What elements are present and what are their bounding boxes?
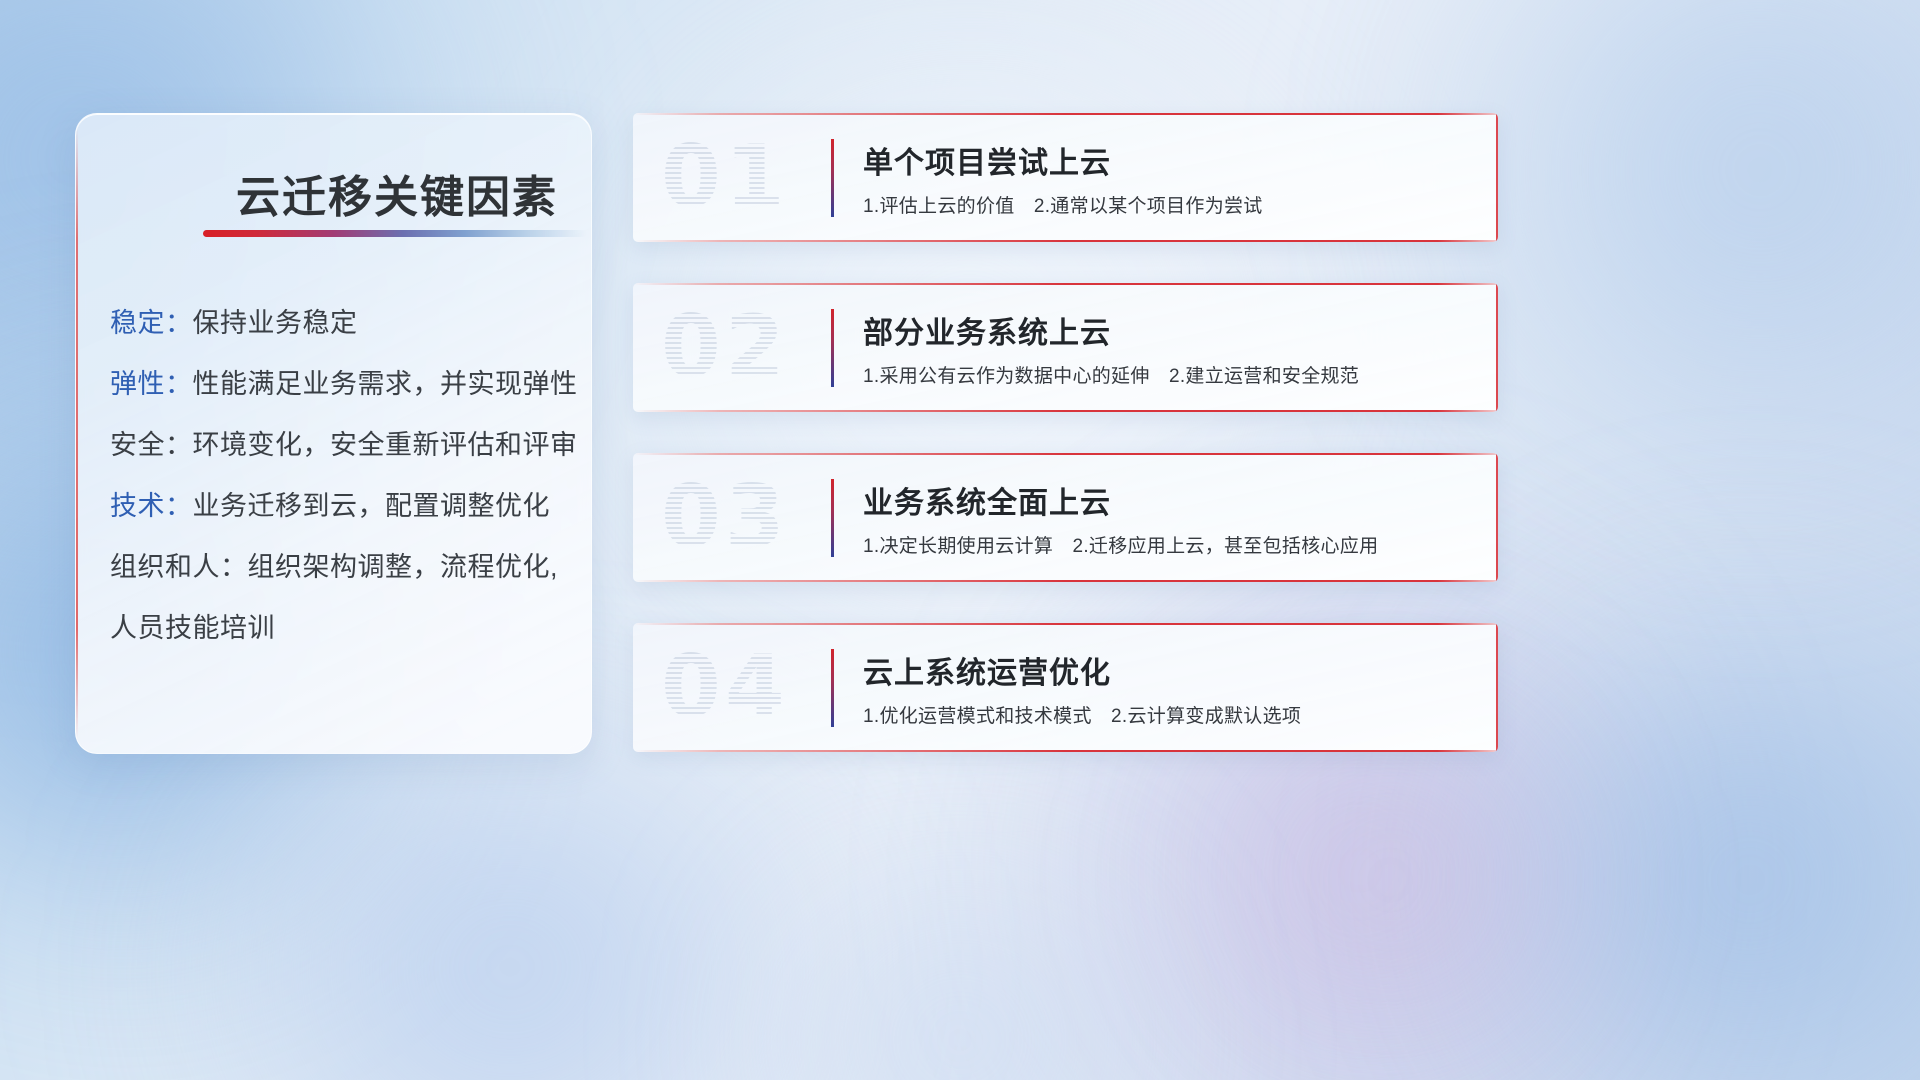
factor-label: 稳定： bbox=[110, 310, 193, 337]
factor-row: 稳定：保持业务稳定 bbox=[110, 310, 573, 337]
factor-label: 组织和人： bbox=[110, 554, 248, 581]
factor-list: 稳定：保持业务稳定弹性：性能满足业务需求，并实现弹性安全：环境变化，安全重新评估… bbox=[110, 310, 573, 676]
stage-description: 1.评估上云的价值 2.通常以某个项目作为尝试 bbox=[863, 191, 1263, 218]
gradient-divider bbox=[831, 139, 834, 217]
page-title: 云迁移关键因素 bbox=[236, 161, 558, 225]
key-factors-panel: 云迁移关键因素 稳定：保持业务稳定弹性：性能满足业务需求，并实现弹性安全：环境变… bbox=[75, 113, 592, 754]
stage-title: 单个项目尝试上云 bbox=[863, 138, 1111, 182]
factor-row: 技术：业务迁移到云，配置调整优化 bbox=[110, 493, 573, 520]
card-edge-accent bbox=[1496, 283, 1498, 412]
card-edge-accent bbox=[1496, 623, 1498, 752]
stage-number-watermark: 04 bbox=[661, 637, 789, 737]
stage-title: 云上系统运营优化 bbox=[863, 648, 1111, 692]
factor-value: 业务迁移到云，配置调整优化 bbox=[193, 493, 551, 520]
stage-card[interactable]: 03业务系统全面上云1.决定长期使用云计算 2.迁移应用上云，甚至包括核心应用 bbox=[633, 453, 1498, 582]
stage-description: 1.决定长期使用云计算 2.迁移应用上云，甚至包括核心应用 bbox=[863, 531, 1378, 558]
factor-row: 人员技能培训 bbox=[110, 615, 573, 642]
factor-value: 环境变化，安全重新评估和评审 bbox=[193, 432, 578, 459]
factor-label: 技术： bbox=[110, 493, 193, 520]
stage-description: 1.优化运营模式和技术模式 2.云计算变成默认选项 bbox=[863, 701, 1301, 728]
stage-description: 1.采用公有云作为数据中心的延伸 2.建立运营和安全规范 bbox=[863, 361, 1359, 388]
gradient-divider bbox=[831, 649, 834, 727]
stage-number-watermark: 03 bbox=[661, 467, 789, 567]
factor-value: 保持业务稳定 bbox=[193, 310, 358, 337]
factor-row: 安全：环境变化，安全重新评估和评审 bbox=[110, 432, 573, 459]
factor-value: 组织架构调整，流程优化, bbox=[248, 554, 559, 581]
factor-value: 性能满足业务需求，并实现弹性 bbox=[193, 371, 578, 398]
card-edge-accent bbox=[1496, 453, 1498, 582]
factor-value: 人员技能培训 bbox=[110, 615, 275, 642]
title-underline-accent bbox=[203, 230, 587, 237]
stage-card-list: 01单个项目尝试上云1.评估上云的价值 2.通常以某个项目作为尝试02部分业务系… bbox=[633, 113, 1498, 793]
gradient-divider bbox=[831, 479, 834, 557]
factor-label: 弹性： bbox=[110, 371, 193, 398]
stage-title: 业务系统全面上云 bbox=[863, 478, 1111, 522]
factor-label: 安全： bbox=[110, 432, 193, 459]
factor-row: 弹性：性能满足业务需求，并实现弹性 bbox=[110, 371, 573, 398]
factor-row: 组织和人：组织架构调整，流程优化, bbox=[110, 554, 573, 581]
gradient-divider bbox=[831, 309, 834, 387]
stage-title: 部分业务系统上云 bbox=[863, 308, 1111, 352]
card-edge-accent bbox=[1496, 113, 1498, 242]
stage-card[interactable]: 04云上系统运营优化1.优化运营模式和技术模式 2.云计算变成默认选项 bbox=[633, 623, 1498, 752]
stage-card[interactable]: 01单个项目尝试上云1.评估上云的价值 2.通常以某个项目作为尝试 bbox=[633, 113, 1498, 242]
stage-number-watermark: 02 bbox=[661, 297, 789, 397]
stage-card[interactable]: 02部分业务系统上云1.采用公有云作为数据中心的延伸 2.建立运营和安全规范 bbox=[633, 283, 1498, 412]
stage-number-watermark: 01 bbox=[661, 127, 789, 227]
